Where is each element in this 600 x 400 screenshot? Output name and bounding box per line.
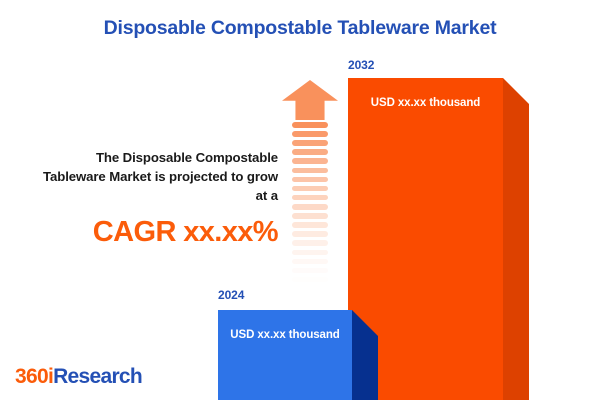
bar-2024-side-panel [352, 310, 378, 400]
arrow-shaft-rung [292, 222, 328, 228]
up-arrow-head [282, 80, 338, 120]
arrow-shaft-rung [292, 204, 328, 210]
arrow-shaft-rung [292, 122, 328, 128]
statement-block: The Disposable Compostable Tableware Mar… [34, 148, 278, 249]
arrow-shaft-rung [292, 131, 328, 137]
logo-secondary-text: Research [53, 365, 142, 388]
bar-2024: USD xx.xx thousand [218, 310, 378, 400]
arrow-shaft-rung [292, 140, 328, 146]
market-infographic: Disposable Compostable Tableware Market … [0, 0, 600, 400]
up-arrow-shaft [292, 122, 328, 295]
bar-2032-side-panel [503, 78, 529, 400]
arrow-shaft-rung [292, 240, 328, 246]
arrow-shaft-rung [292, 268, 328, 274]
up-arrow-icon [282, 80, 338, 295]
arrow-shaft-rung [292, 277, 328, 283]
arrow-shaft-rung [292, 158, 328, 164]
bar-2024-face: USD xx.xx thousand [218, 310, 352, 400]
brand-logo: 360iResearch [15, 365, 142, 389]
arrow-shaft-rung [292, 168, 328, 174]
arrow-shaft-rung [292, 231, 328, 237]
bar-year-label-2032: 2032 [348, 58, 374, 72]
cagr-value: CAGR xx.xx% [34, 216, 278, 249]
arrow-shaft-rung [292, 286, 328, 292]
bar-value-label-2024: USD xx.xx thousand [218, 329, 352, 341]
page-title: Disposable Compostable Tableware Market [0, 17, 600, 40]
statement-text: The Disposable Compostable Tableware Mar… [34, 148, 278, 205]
arrow-shaft-rung [292, 177, 328, 183]
arrow-shaft-rung [292, 149, 328, 155]
bar-year-label-2024: 2024 [218, 288, 244, 302]
logo-primary-text: 360i [15, 365, 53, 388]
arrow-shaft-rung [292, 259, 328, 265]
arrow-shaft-rung [292, 186, 328, 192]
bar-value-label-2032: USD xx.xx thousand [348, 97, 503, 109]
arrow-shaft-rung [292, 213, 328, 219]
arrow-shaft-rung [292, 195, 328, 201]
arrow-shaft-rung [292, 250, 328, 256]
